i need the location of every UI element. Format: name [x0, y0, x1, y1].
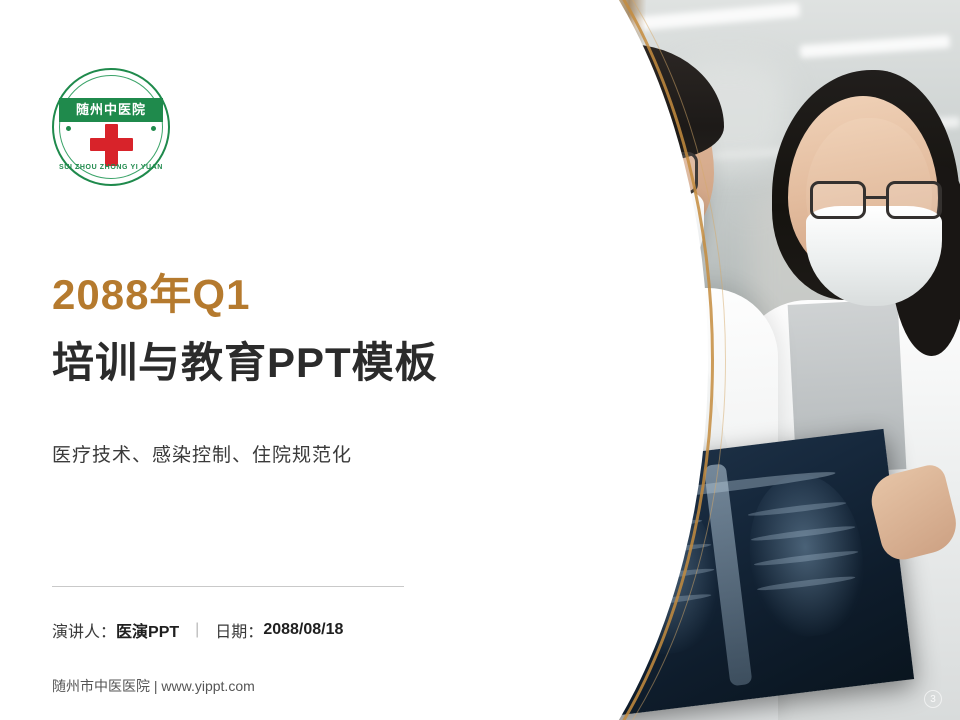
logo-pinyin-text: SUI ZHOU ZHONG YI YUAN [52, 164, 170, 171]
ceiling-light [800, 35, 951, 58]
gold-arc-outline-thin [420, 0, 726, 720]
date-label: 日期： [215, 618, 263, 642]
speaker-value: 医演PPT [116, 618, 179, 642]
footer-text: 随州市中医医院 | www.yippt.com [52, 676, 255, 696]
logo-name-band: 随州中医院 [59, 98, 163, 122]
page-title: 培训与教育PPT模板 [52, 340, 438, 386]
cover-photo: 3 [420, 0, 960, 720]
presenter-meta: 演讲人： 医演PPT | 日期： 2088/08/18 [52, 618, 343, 642]
page-subtitle: 医疗技术、感染控制、住院规范化 [52, 440, 352, 467]
logo-name-text: 随州中医院 [59, 98, 163, 122]
page-title-accent: 2088年Q1 [52, 272, 250, 318]
hospital-logo: 随州中医院 SUI ZHOU ZHONG YI YUAN [52, 68, 170, 186]
presentation-slide: 3 随州中医院 SUI ZHOU ZHONG YI YUAN 2088年Q1 培… [0, 0, 960, 720]
doctor-female-glasses [808, 178, 958, 224]
ceiling-light [630, 3, 801, 32]
speaker-label: 演讲人： [52, 618, 116, 642]
divider [52, 586, 404, 587]
meta-separator: | [195, 621, 199, 639]
page-number: 3 [924, 690, 942, 708]
date-value: 2088/08/18 [263, 621, 343, 639]
